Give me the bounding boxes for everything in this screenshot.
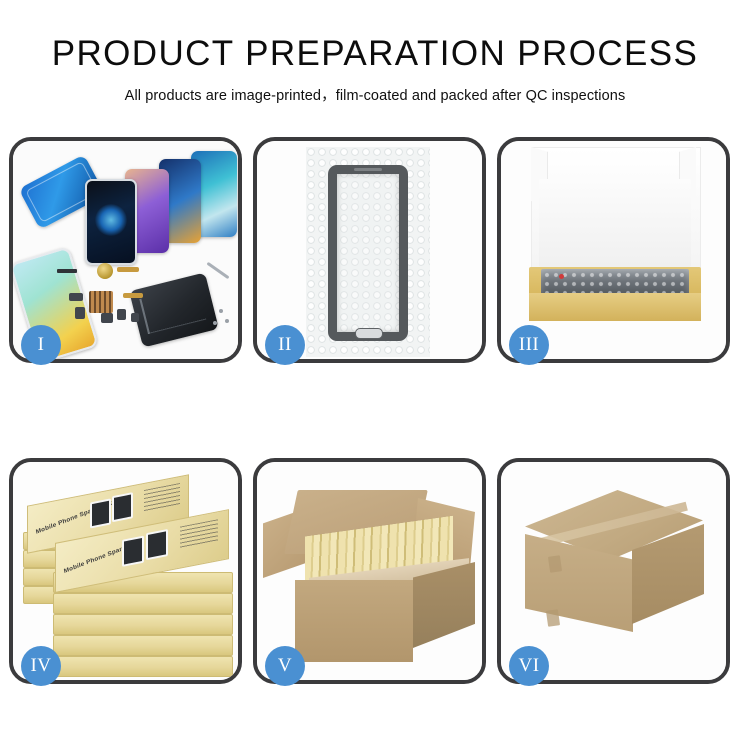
step-badge-2: II [265,325,305,365]
page-title: PRODUCT PREPARATION PROCESS [0,36,750,73]
wrapped-phone-screen [328,165,408,341]
box-window-product [146,529,168,560]
step-badge-5: V [265,646,305,686]
camera-module-part [75,307,85,319]
box-window-product [90,498,111,528]
bubble-wrap-sheet [306,147,430,357]
step-badge-4: IV [21,646,61,686]
step-badge-1: I [21,325,61,365]
box-window-product [122,536,144,567]
antenna-bar-part [57,269,77,273]
carton-tape-patch [546,609,560,627]
stacked-box [53,614,233,635]
box-stack: Mobile Phone Spare Parts Mobile Phone Sp… [21,476,233,672]
step-panel-5[interactable]: V [253,458,486,684]
vibrator-part [117,309,126,320]
stacked-box [53,635,233,656]
screw-part [213,321,217,325]
flex-cable-part [123,293,143,298]
step-panel-2[interactable]: II [253,137,486,363]
screw-part [219,309,223,313]
page-header: PRODUCT PREPARATION PROCESS All products… [0,0,750,105]
box-window-product [112,492,133,522]
step-panel-6[interactable]: VI [497,458,730,684]
connector-part [69,293,83,301]
carton-front-face [295,580,413,662]
earpiece-slot [354,168,382,171]
screw-part [225,319,229,323]
carton-tape-patch [548,555,562,573]
page-subtitle: All products are image-printed，film-coat… [0,84,750,105]
phone-screen-black [85,179,137,265]
stacked-box [53,656,233,677]
box-spec-lines [144,483,180,512]
kraft-box-front [529,293,701,321]
step-badge-3: III [509,325,549,365]
step-panel-1[interactable]: I [9,137,242,363]
step-panel-4[interactable]: Mobile Phone Spare Parts Mobile Phone Sp… [9,458,242,684]
speaker-coil-part [97,263,113,279]
flex-cable-part [117,267,139,272]
chip-part [89,291,113,313]
battery-part [101,313,113,323]
sim-tray-part [131,313,139,322]
foam-insert [539,179,691,267]
stacked-box [53,593,233,614]
label-dot [559,274,564,279]
step-badge-6: VI [509,646,549,686]
box-spec-lines [180,519,218,549]
step-panel-3[interactable]: III [497,137,730,363]
process-steps-grid: I II III [9,137,741,684]
